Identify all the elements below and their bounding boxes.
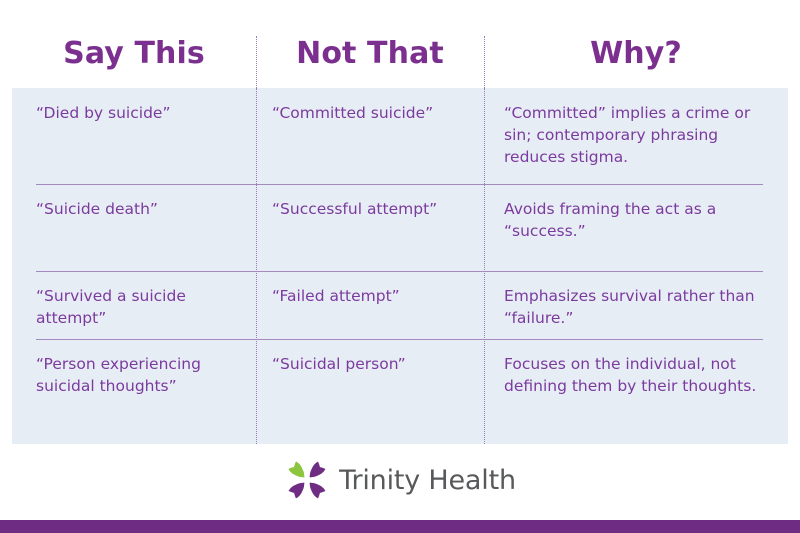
- table-body-panel: “Died by suicide” “Committed suicide” “C…: [12, 88, 788, 444]
- column-header-why: Why?: [484, 39, 788, 69]
- table-row: “Survived a suicide attempt” “Failed att…: [12, 271, 788, 339]
- cell-why: Avoids framing the act as a “success.”: [484, 184, 788, 271]
- cell-not-that: “Committed suicide”: [256, 88, 484, 184]
- column-divider-2-header: [484, 36, 485, 88]
- row-separator: [36, 184, 763, 185]
- row-separator: [36, 339, 763, 340]
- cell-not-that: “Successful attempt”: [256, 184, 484, 271]
- bottom-accent-bar: [0, 520, 800, 533]
- column-header-not-that: Not That: [256, 39, 484, 69]
- column-header-say-this: Say This: [12, 39, 256, 69]
- table-row: “Suicide death” “Successful attempt” Avo…: [12, 184, 788, 271]
- footer-logo-area: Trinity Health: [0, 452, 800, 508]
- column-divider-1-header: [256, 36, 257, 88]
- cell-say-this: “Person experiencing suicidal thoughts”: [12, 339, 256, 444]
- cell-why: Emphasizes survival rather than “failure…: [484, 271, 788, 339]
- table-row: “Died by suicide” “Committed suicide” “C…: [12, 88, 788, 184]
- cell-why: Focuses on the individual, not defining …: [484, 339, 788, 444]
- cell-why: “Committed” implies a crime or sin; cont…: [484, 88, 788, 184]
- table-row: “Person experiencing suicidal thoughts” …: [12, 339, 788, 444]
- table-header-row: Say This Not That Why?: [12, 28, 788, 80]
- trinity-health-cross-icon: [284, 457, 330, 503]
- cell-say-this: “Suicide death”: [12, 184, 256, 271]
- cell-say-this: “Survived a suicide attempt”: [12, 271, 256, 339]
- brand-name: Trinity Health: [339, 467, 516, 494]
- cell-not-that: “Failed attempt”: [256, 271, 484, 339]
- infographic-root: Say This Not That Why? “Died by suicide”…: [0, 0, 800, 533]
- cell-say-this: “Died by suicide”: [12, 88, 256, 184]
- row-separator: [36, 271, 763, 272]
- cell-not-that: “Suicidal person”: [256, 339, 484, 444]
